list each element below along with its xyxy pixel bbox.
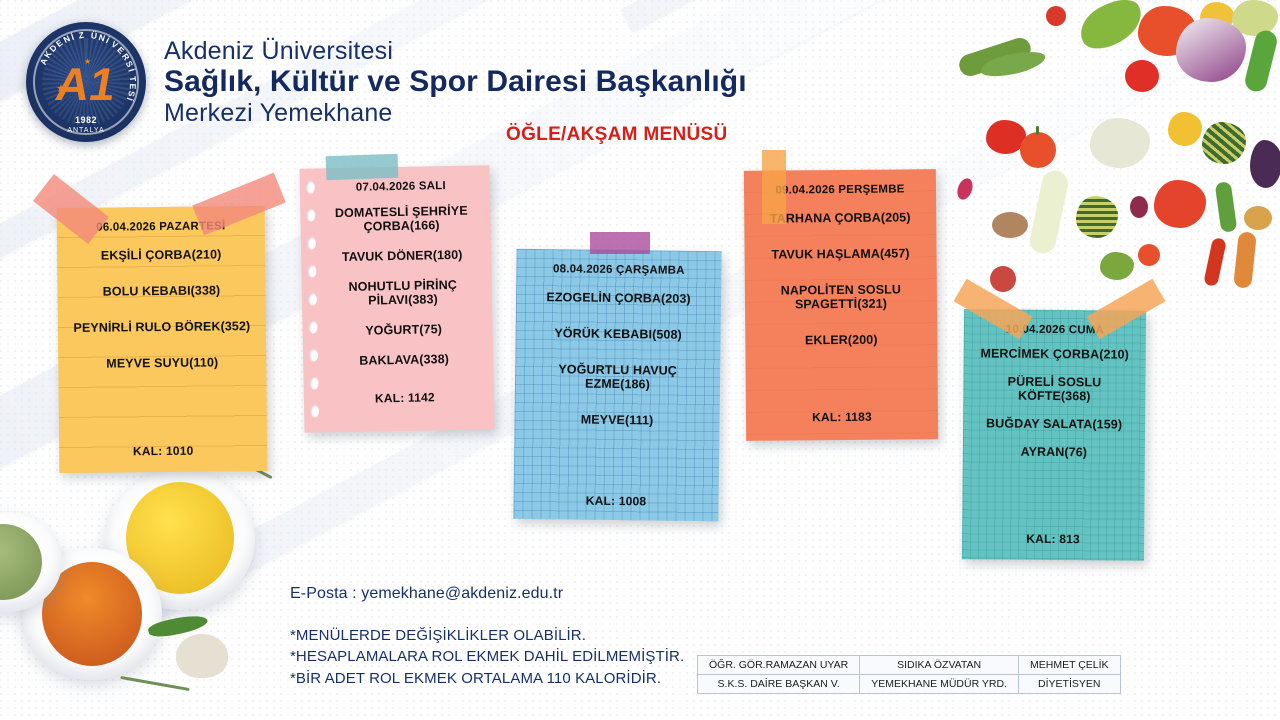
signature-name: SIDIKA ÖZVATAN — [860, 656, 1019, 675]
akdeniz-university-logo-icon: A K D E N İ Z Ü N İ V E R S İ T E S İ ★ — [26, 22, 146, 142]
tape-wednesday — [590, 232, 650, 254]
menu-items-friday: MERCİMEK ÇORBA(210) PÜRELİ SOSLU KÖFTE(3… — [973, 339, 1136, 466]
header-line-department: Sağlık, Kültür ve Spor Dairesi Başkanlığ… — [164, 66, 747, 98]
signature-name: MEHMET ÇELİK — [1018, 656, 1120, 675]
menu-item: MERCİMEK ÇORBA(210) — [974, 346, 1136, 361]
menu-item: BAKLAVA(338) — [325, 351, 483, 368]
contact-email[interactable]: E-Posta : yemekhane@akdeniz.edu.tr — [290, 585, 563, 603]
logo-monogram: A1 — [53, 61, 120, 107]
menu-item: TAVUK HAŞLAMA(457) — [754, 246, 926, 262]
logo-city: ANTALYA — [26, 127, 146, 134]
menu-item: PEYNİRLİ RULO BÖREK(352) — [68, 319, 256, 335]
footer-note: *HESAPLAMALARA ROL EKMEK DAHİL EDİLMEMİŞ… — [290, 646, 684, 667]
menu-date-wednesday: 08.04.2026 ÇARŞAMBA — [526, 263, 711, 277]
header-line-facility: Merkezi Yemekhane — [164, 100, 747, 126]
footer-notes: *MENÜLERDE DEĞİŞİKLİKLER OLABİLİR. *HESA… — [290, 625, 684, 689]
menu-calorie-total-wednesday: KAL: 1008 — [514, 493, 719, 510]
menu-item: EKLER(200) — [755, 332, 927, 348]
menu-item: YÖRÜK KEBABI(508) — [526, 326, 711, 342]
menu-item: BUĞDAY SALATA(159) — [973, 416, 1135, 431]
menu-calorie-total-monday: KAL: 1010 — [59, 443, 267, 459]
tape-thursday — [762, 150, 786, 224]
table-row: ÖĞR. GÖR.RAMAZAN UYAR SIDIKA ÖZVATAN MEH… — [698, 656, 1121, 675]
menu-item: DOMATESLİ ŞEHRİYE ÇORBA(166) — [322, 203, 481, 234]
menu-item: MEYVE SUYU(110) — [68, 355, 256, 371]
menu-item: YOĞURTLU HAVUÇ EZME(186) — [525, 362, 710, 392]
menu-items-monday: EKŞİLİ ÇORBA(210) BOLU KEBABI(338) PEYNİ… — [67, 236, 256, 382]
footer-note: *BİR ADET ROL EKMEK ORTALAMA 110 KALORİD… — [290, 668, 684, 689]
table-row: S.K.S. DAİRE BAŞKAN V. YEMEKHANE MÜDÜR Y… — [698, 675, 1121, 694]
signature-title: DİYETİSYEN — [1018, 675, 1120, 694]
menu-item: NOHUTLU PİRİNÇ PİLAVI(383) — [324, 277, 483, 308]
tape-tuesday — [326, 154, 399, 180]
menu-item: BOLU KEBABI(338) — [67, 283, 255, 299]
logo-year: 1982 — [26, 115, 146, 125]
menu-calorie-total-friday: KAL: 813 — [962, 531, 1144, 547]
menu-item: TAVUK DÖNER(180) — [323, 247, 481, 264]
menu-item: YOĞURT(75) — [324, 321, 482, 338]
signature-table: ÖĞR. GÖR.RAMAZAN UYAR SIDIKA ÖZVATAN MEH… — [697, 655, 1121, 694]
footer-note: *MENÜLERDE DEĞİŞİKLİKLER OLABİLİR. — [290, 625, 684, 646]
menu-item: PÜRELİ SOSLU KÖFTE(368) — [973, 374, 1135, 403]
menu-item: MEYVE(111) — [524, 412, 709, 428]
menu-card-tuesday[interactable]: 07.04.2026 SALI DOMATESLİ ŞEHRİYE ÇORBA(… — [299, 165, 494, 433]
signature-title: S.K.S. DAİRE BAŞKAN V. — [698, 675, 860, 694]
menu-calorie-total-tuesday: KAL: 1142 — [326, 389, 484, 406]
signature-name: ÖĞR. GÖR.RAMAZAN UYAR — [698, 656, 860, 675]
menu-items-wednesday: EZOGELİN ÇORBA(203) YÖRÜK KEBABI(508) YO… — [524, 279, 711, 439]
menu-title: ÖĞLE/AKŞAM MENÜSÜ — [506, 124, 728, 146]
menu-date-tuesday: 07.04.2026 SALI — [322, 179, 480, 194]
signature-title: YEMEKHANE MÜDÜR YRD. — [860, 675, 1019, 694]
menu-item: EKŞİLİ ÇORBA(210) — [67, 247, 255, 263]
menu-poster: A K D E N İ Z Ü N İ V E R S İ T E S İ ★ — [0, 0, 1280, 720]
menu-item: NAPOLİTEN SOSLU SPAGETTİ(321) — [755, 282, 927, 311]
menu-items-tuesday: DOMATESLİ ŞEHRİYE ÇORBA(166) TAVUK DÖNER… — [322, 195, 483, 376]
menu-card-wednesday[interactable]: 08.04.2026 ÇARŞAMBA EZOGELİN ÇORBA(203) … — [513, 249, 721, 521]
menu-card-monday[interactable]: 06.04.2026 PAZARTESİ EKŞİLİ ÇORBA(210) B… — [57, 206, 268, 473]
menu-item: AYRAN(76) — [973, 444, 1135, 459]
menu-card-friday[interactable]: 10.04.2026 CUMA MERCİMEK ÇORBA(210) PÜRE… — [962, 309, 1146, 561]
menu-item: EZOGELİN ÇORBA(203) — [526, 290, 711, 306]
menu-calorie-total-thursday: KAL: 1183 — [746, 409, 938, 425]
header-line-university: Akdeniz Üniversitesi — [164, 38, 747, 64]
